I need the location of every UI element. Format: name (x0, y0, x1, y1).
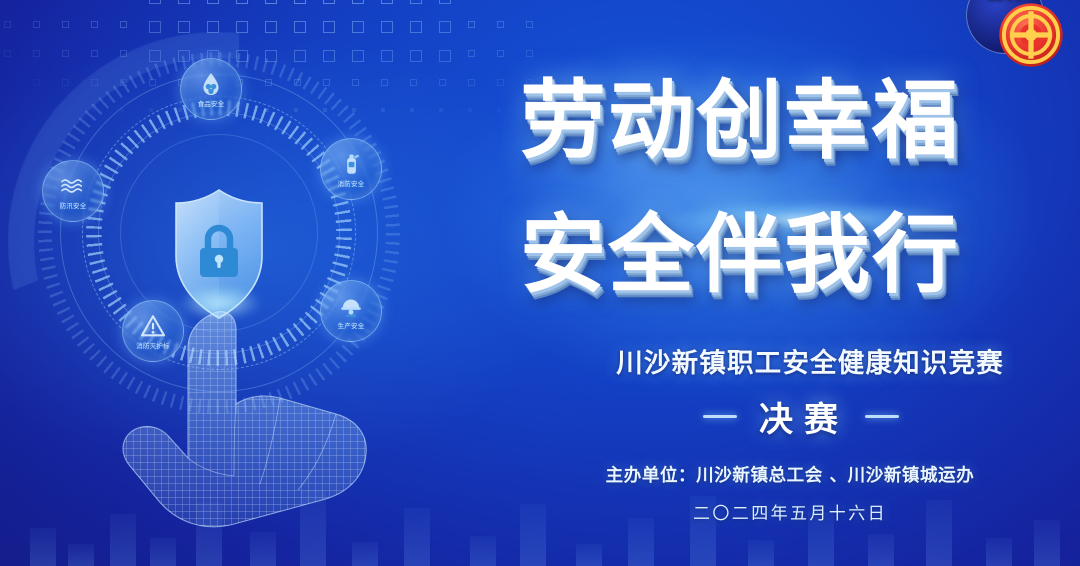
bubble-flood-safety[interactable]: 防汛安全 (42, 160, 104, 222)
bubble-food-safety[interactable]: 食品安全 (180, 58, 242, 120)
dash-right-icon (865, 415, 899, 418)
event-date: 二〇二四年五月十六日 (524, 499, 1004, 524)
title-line-2: 安全伴我行 (520, 212, 960, 298)
bubble-fire-safety[interactable]: 消防安全 (320, 138, 382, 200)
organizer-line: 主办单位：川沙新镇总工会 、川沙新镇城运办 (524, 462, 1004, 487)
bubble-label: 食品安全 (198, 98, 225, 108)
poster-canvas: 食品安全 消防安全 生产安全 (0, 0, 1080, 566)
stage-label: 决赛 (753, 392, 849, 441)
central-shield (154, 178, 284, 328)
stage-label-row: 决赛 (524, 392, 1004, 441)
fire-extinguisher-icon (338, 151, 364, 177)
bubble-label: 防汛安全 (60, 200, 87, 210)
dash-left-icon (703, 415, 737, 418)
wireframe-hand-icon (84, 308, 414, 566)
acftu-union-emblem-icon (998, 2, 1064, 68)
tech-safety-graphic: 食品安全 消防安全 生产安全 (24, 38, 444, 566)
title-line-1: 劳动创幸福 (520, 78, 960, 164)
poster-subtitle: 川沙新镇职工安全健康知识竞赛 (524, 341, 1004, 380)
bubble-label: 消防安全 (338, 178, 365, 188)
emblem-cluster: En (960, 0, 1070, 86)
water-wave-icon (60, 173, 86, 199)
food-drop-icon (198, 71, 224, 97)
